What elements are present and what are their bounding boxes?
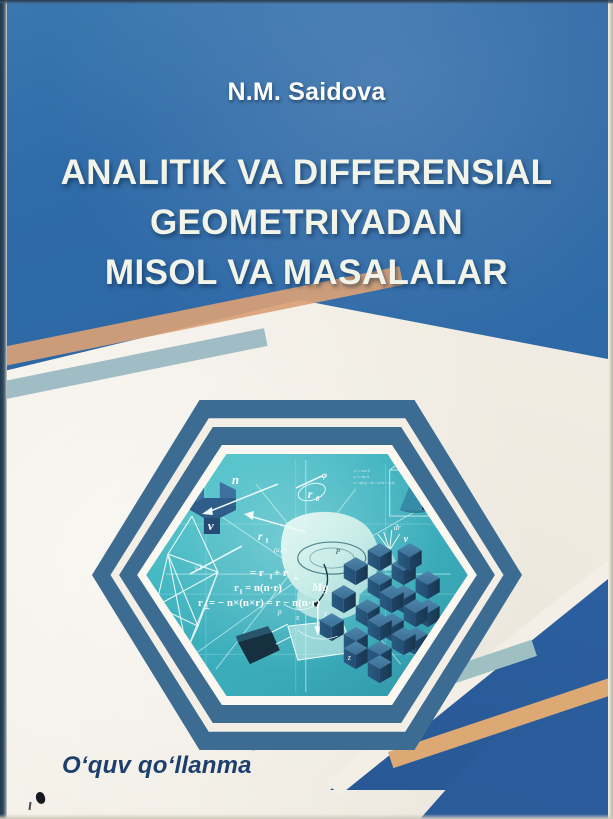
book-spine-edge [0, 0, 7, 819]
svg-text:x = r cos θ: x = r cos θ [354, 469, 370, 473]
book-title: ANALITIK VA DIFFERENSIAL GEOMETRIYADAN M… [0, 148, 613, 298]
svg-text:dr: dr [394, 523, 402, 532]
label-r0: r [308, 487, 313, 501]
svg-text:P: P [335, 548, 341, 556]
svg-text:+ r: + r [274, 567, 288, 579]
svg-text:= n(n·r): = n(n·r) [245, 582, 282, 594]
formula-3: r [198, 597, 203, 609]
book-cover: P n v r ‖ r 0 φ [0, 0, 613, 819]
svg-text:ρ: ρ [277, 607, 282, 616]
formula-1: = r [250, 567, 264, 579]
book-right-edge [608, 0, 613, 819]
hexagon-emblem: P n v r ‖ r 0 φ [92, 400, 522, 750]
svg-text:z = f(x,y) ; dz = p dx + q dy: z = f(x,y) ; dz = p dx + q dy [354, 481, 395, 485]
label-v: v [208, 518, 214, 533]
svg-text:Mg: Mg [311, 580, 329, 594]
svg-text:‖: ‖ [270, 573, 272, 581]
svg-text:= − n×(n×r) = r − n(n·r): = − n×(n×r) = r − n(n·r) [209, 597, 320, 609]
svg-text:‖: ‖ [266, 537, 268, 545]
svg-text:⊥: ⊥ [293, 573, 299, 581]
label-phi: φ [322, 470, 327, 480]
svg-text:x: x [295, 613, 300, 622]
author-name: N.M. Saidova [0, 78, 613, 107]
svg-text:y: y [323, 609, 328, 618]
svg-text:v: v [404, 534, 409, 545]
dark-wedge [236, 624, 292, 664]
svg-text:y = r sin θ: y = r sin θ [354, 475, 369, 479]
svg-text:z: z [347, 653, 351, 662]
book-bottom-edge [0, 814, 613, 819]
title-line-3: MISOL VA MASALALAR [0, 248, 613, 298]
formula-2: r [234, 582, 239, 594]
label-r-par: r [258, 529, 263, 543]
svg-text:‖: ‖ [240, 588, 242, 596]
svg-text:(u,v): (u,v) [274, 546, 288, 554]
title-line-1: ANALITIK VA DIFFERENSIAL [0, 148, 613, 198]
svg-text:√3: √3 [194, 563, 202, 572]
subtitle-label: O‘quv qo‘llanma [62, 752, 252, 780]
book-top-edge [0, 0, 613, 4]
title-line-2: GEOMETRIYADAN [0, 198, 613, 248]
label-n: n [232, 472, 239, 487]
